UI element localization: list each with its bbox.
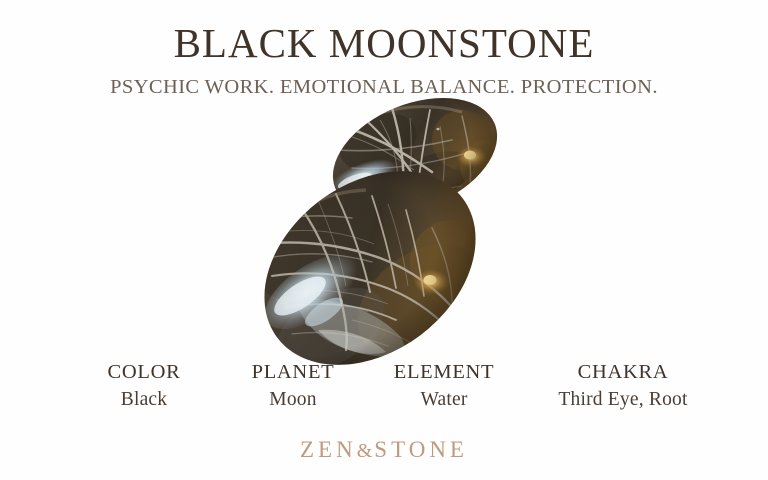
brand-word-right: STONE bbox=[374, 437, 468, 462]
attribute-chakra-value: Third Eye, Root bbox=[558, 387, 687, 412]
brand-word-left: ZEN bbox=[300, 437, 357, 462]
page-subtitle: PSYCHIC WORK. EMOTIONAL BALANCE. PROTECT… bbox=[0, 76, 768, 99]
attribute-planet-value: Moon bbox=[252, 387, 335, 412]
card-header: BLACK MOONSTONE PSYCHIC WORK. EMOTIONAL … bbox=[0, 22, 768, 99]
attribute-planet: PLANET Moon bbox=[252, 360, 335, 413]
attribute-color-label: COLOR bbox=[108, 360, 181, 384]
attribute-chakra: CHAKRA Third Eye, Root bbox=[558, 360, 687, 413]
brand-logo: ZEN&STONE bbox=[0, 437, 768, 463]
attribute-element-label: ELEMENT bbox=[394, 360, 495, 384]
attribute-planet-label: PLANET bbox=[252, 360, 335, 384]
attribute-chakra-label: CHAKRA bbox=[558, 360, 687, 384]
attribute-color: COLOR Black bbox=[108, 360, 181, 413]
brand-ampersand: & bbox=[357, 440, 375, 462]
attribute-color-value: Black bbox=[108, 387, 181, 412]
attribute-element-value: Water bbox=[394, 387, 495, 412]
upper-stone bbox=[316, 76, 514, 237]
attribute-element: ELEMENT Water bbox=[394, 360, 495, 413]
crystal-info-card: BLACK MOONSTONE PSYCHIC WORK. EMOTIONAL … bbox=[0, 0, 768, 480]
page-title: BLACK MOONSTONE bbox=[0, 22, 768, 65]
attributes-row: COLOR Black PLANET Moon ELEMENT Water CH… bbox=[0, 360, 768, 422]
